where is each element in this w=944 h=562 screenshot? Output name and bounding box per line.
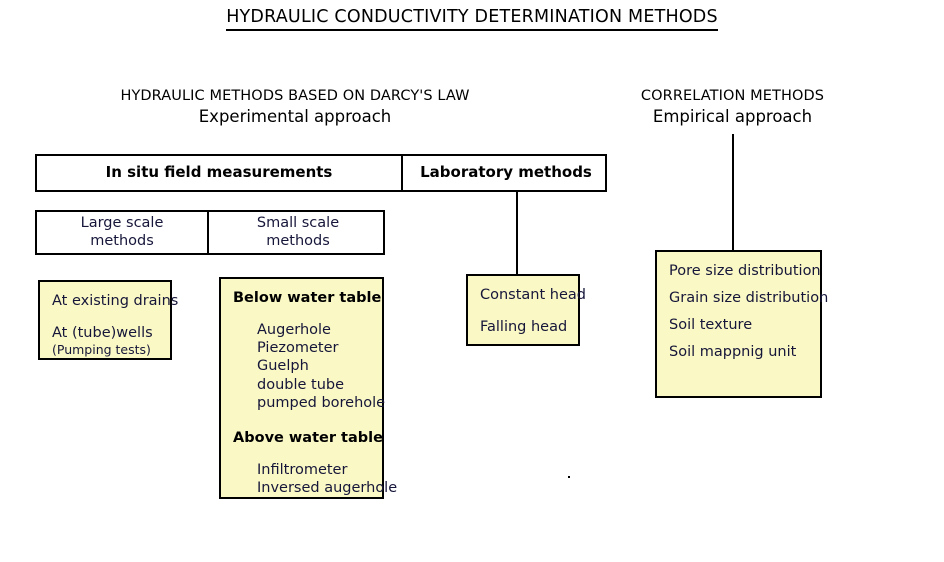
branch-heading-correlation: CORRELATION METHODS Empirical approach <box>615 88 850 126</box>
leaf-header-below-water-table: Below water table <box>233 289 382 307</box>
branch-hydraulic-line2: Experimental approach <box>85 107 505 126</box>
node-small-scale-line1: Small scale <box>257 215 339 232</box>
spacer <box>233 447 382 461</box>
spacer <box>52 310 170 324</box>
leaf-correlation-methods[interactable]: Pore size distribution Grain size distri… <box>655 250 822 398</box>
leaf-large-scale-methods[interactable]: At existing drains At (tube)wells (Pumpi… <box>38 280 172 360</box>
row-scale-methods: Large scale methods Small scale methods <box>35 210 385 255</box>
node-laboratory-methods[interactable]: Laboratory methods <box>403 156 609 190</box>
branch-correlation-line1: CORRELATION METHODS <box>615 88 850 104</box>
leaf-item-piezometer: Piezometer <box>233 339 382 357</box>
spacer <box>669 307 820 316</box>
node-small-scale-line2: methods <box>257 233 339 250</box>
page-title-text: HYDRAULIC CONDUCTIVITY DETERMINATION MET… <box>226 7 718 31</box>
leaf-item-pore-size-distribution: Pore size distribution <box>669 262 820 280</box>
leaf-small-scale-methods[interactable]: Below water table Augerhole Piezometer G… <box>219 277 384 499</box>
row-primary-methods: In situ field measurements Laboratory me… <box>35 154 607 192</box>
spacer <box>480 304 578 318</box>
leaf-item-grain-size-distribution: Grain size distribution <box>669 289 820 307</box>
leaf-item-at-tube-wells: At (tube)wells <box>52 324 170 342</box>
leaf-laboratory-methods[interactable]: Constant head Falling head <box>466 274 580 346</box>
leaf-item-inversed-augerhole: Inversed augerhole <box>233 479 382 497</box>
stray-dot-artifact <box>568 476 570 478</box>
connector-correlation <box>732 134 734 251</box>
leaf-small-scale-body: Below water table Augerhole Piezometer G… <box>221 279 382 497</box>
node-laboratory-label: Laboratory methods <box>403 156 609 190</box>
leaf-item-augerhole: Augerhole <box>233 321 382 339</box>
leaf-item-infiltrometer: Infiltrometer <box>233 461 382 479</box>
leaf-item-soil-texture: Soil texture <box>669 316 820 334</box>
node-small-scale-methods[interactable]: Small scale methods <box>209 212 387 253</box>
spacer <box>669 334 820 343</box>
spacer <box>669 280 820 289</box>
node-in-situ-field-measurements[interactable]: In situ field measurements <box>37 156 403 190</box>
leaf-item-constant-head: Constant head <box>480 286 578 304</box>
leaf-item-guelph: Guelph <box>233 357 382 375</box>
node-large-scale-line2: methods <box>81 233 164 250</box>
node-in-situ-label: In situ field measurements <box>37 156 401 190</box>
node-small-scale-label: Small scale methods <box>209 212 387 253</box>
connector-laboratory <box>516 192 518 275</box>
node-large-scale-label: Large scale methods <box>37 212 207 253</box>
branch-correlation-line2: Empirical approach <box>615 107 850 126</box>
leaf-item-soil-mapping-unit: Soil mappnig unit <box>669 343 820 361</box>
node-large-scale-methods[interactable]: Large scale methods <box>37 212 209 253</box>
diagram-canvas: HYDRAULIC CONDUCTIVITY DETERMINATION MET… <box>0 0 944 562</box>
leaf-header-above-water-table: Above water table <box>233 429 382 447</box>
leaf-item-falling-head: Falling head <box>480 318 578 336</box>
leaf-item-pumping-tests-note: (Pumping tests) <box>52 342 170 358</box>
page-title: HYDRAULIC CONDUCTIVITY DETERMINATION MET… <box>0 7 944 27</box>
leaf-item-double-tube: double tube <box>233 376 382 394</box>
spacer <box>233 307 382 321</box>
leaf-item-pumped-borehole: pumped borehole <box>233 394 382 412</box>
branch-heading-hydraulic: HYDRAULIC METHODS BASED ON DARCY'S LAW E… <box>85 88 505 126</box>
branch-hydraulic-line1: HYDRAULIC METHODS BASED ON DARCY'S LAW <box>85 88 505 104</box>
spacer <box>233 412 382 429</box>
leaf-item-at-existing-drains: At existing drains <box>52 292 170 310</box>
leaf-correlation-body: Pore size distribution Grain size distri… <box>657 252 820 362</box>
leaf-large-scale-body: At existing drains At (tube)wells (Pumpi… <box>40 282 170 358</box>
leaf-laboratory-body: Constant head Falling head <box>468 276 578 336</box>
node-large-scale-line1: Large scale <box>81 215 164 232</box>
